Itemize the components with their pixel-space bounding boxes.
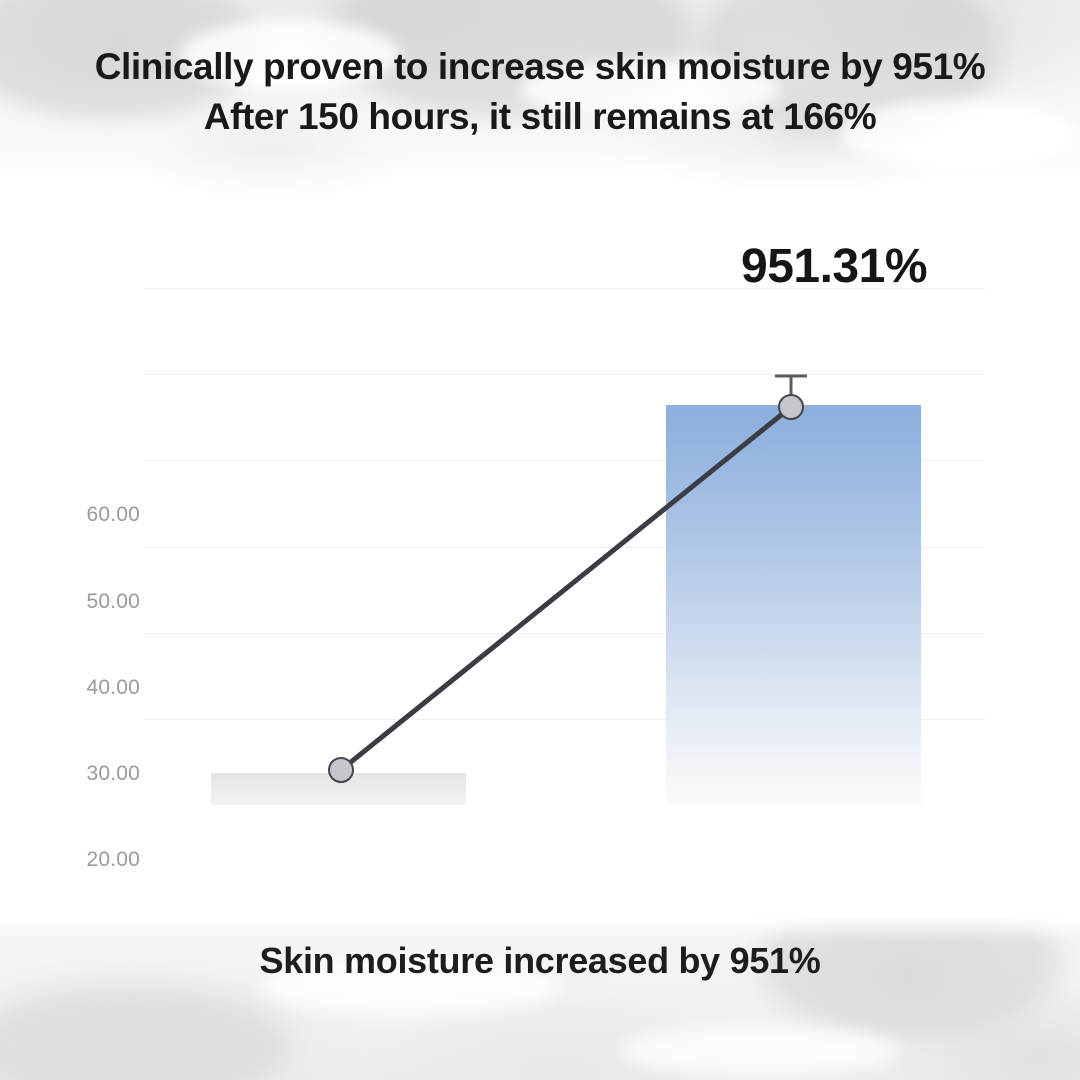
y-axis-tick-label: 30.00	[20, 762, 140, 786]
headline-line-1: Clinically proven to increase skin moist…	[95, 46, 986, 87]
footer-caption: Skin moisture increased by 951%	[0, 940, 1080, 982]
headline: Clinically proven to increase skin moist…	[0, 42, 1080, 142]
y-axis-tick-label: 50.00	[20, 590, 140, 614]
texture-highlight	[620, 1026, 900, 1076]
data-point-marker-single-use-result[interactable]	[778, 394, 804, 420]
plot-area: 951.31%	[145, 288, 985, 805]
data-value-label: 951.31%	[741, 239, 1080, 294]
y-axis-tick-label: 40.00	[20, 676, 140, 700]
y-axis-tick-label: 60.00	[20, 503, 140, 527]
data-point-marker-before[interactable]	[328, 757, 354, 783]
trend-line-overlay	[145, 288, 985, 805]
texture-shade	[0, 986, 290, 1080]
trend-line-segment	[341, 407, 791, 770]
promo-chart-page: Clinically proven to increase skin moist…	[0, 0, 1080, 1080]
top-band-fade	[0, 150, 1080, 228]
chart: 60.00 50.00 40.00 30.00 20.00 10.00 0.00	[0, 228, 1080, 916]
bottom-band-fade	[0, 916, 1080, 942]
headline-line-2: After 150 hours, it still remains at 166…	[0, 92, 1080, 142]
y-axis-tick-label: 20.00	[20, 848, 140, 872]
